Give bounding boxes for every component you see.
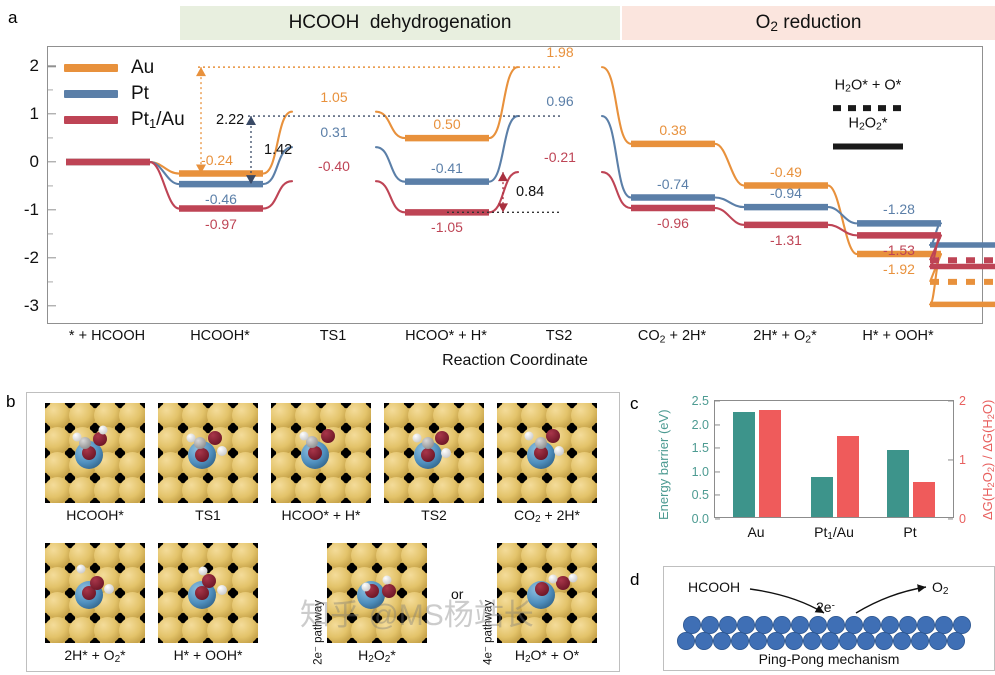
- surface-atom: [755, 616, 772, 633]
- x-tick-label: HCOO* + H*: [405, 328, 487, 344]
- atomistic-structure: [497, 403, 597, 503]
- atom-o: [435, 431, 449, 445]
- surface-atom: [857, 632, 874, 649]
- series-connector-Pt₁/Au: [150, 162, 941, 266]
- barrier-annotation: 1.42: [264, 142, 292, 158]
- structure-thumbnail: [497, 403, 597, 503]
- legend-label-pt: Pt: [131, 83, 149, 105]
- arrow-au-barrier-head-up: [196, 67, 206, 76]
- surface-atom: [917, 616, 934, 633]
- band-o2-reduction: O2 reduction: [622, 6, 995, 40]
- legend-item-au: Au: [64, 55, 185, 81]
- atom-h: [187, 434, 196, 443]
- x-tick-label: CO2 + 2H*: [638, 328, 706, 345]
- structure-thumbnail: [158, 543, 258, 643]
- arrow-out: [856, 587, 926, 613]
- legend-item-pt: Pt: [64, 81, 185, 107]
- structure-caption: CO2 + 2H*: [479, 507, 615, 525]
- y-tick-label: 0: [30, 152, 39, 172]
- structure-caption: H* + OOH*: [140, 647, 276, 663]
- surface-atom: [821, 632, 838, 649]
- legend-item-pt1au: Pt1/Au: [64, 107, 185, 133]
- y-tick-label: 2: [30, 56, 39, 76]
- atom-h: [199, 567, 208, 576]
- panel-a-letter: a: [8, 8, 17, 28]
- panel-c-letter: c: [630, 394, 639, 414]
- c-y-tick-left: 0.0: [692, 512, 709, 526]
- panel-a-free-energy-diagram: a HCOOH dehydrogenation O2 reduction -0.…: [0, 0, 995, 382]
- c-tick-left: [715, 424, 720, 425]
- y-tick-major: [48, 305, 56, 306]
- pathway-label-4e: 4e⁻ pathway: [480, 600, 494, 665]
- value-label: -1.28: [883, 201, 915, 217]
- surface-atom: [713, 632, 730, 649]
- panel-b-letter: b: [6, 392, 15, 412]
- atomistic-structure: [497, 543, 597, 643]
- c-tick-right: [948, 400, 953, 401]
- value-label: -0.40: [318, 158, 350, 174]
- y-tick-label: -3: [24, 296, 39, 316]
- atomistic-structure: [271, 403, 371, 503]
- surface-atom: [947, 632, 964, 649]
- legend-swatch-pt1au: [64, 116, 118, 124]
- atomistic-structure: [158, 543, 258, 643]
- x-tick-label: TS1: [320, 328, 347, 344]
- surface-atom: [911, 632, 928, 649]
- y-tick-major: [48, 257, 56, 258]
- arrow-pt1au-barrier-head-down: [498, 203, 508, 212]
- surface-atom: [809, 616, 826, 633]
- c-tick-left: [715, 448, 720, 449]
- value-label: -1.53: [883, 242, 915, 258]
- bar-deltag-ratio: [913, 482, 935, 517]
- value-label: -0.49: [770, 164, 802, 180]
- surface-atom: [899, 616, 916, 633]
- atom-h: [73, 433, 82, 442]
- atom-h: [569, 574, 578, 583]
- side-legend-label-dashed: H2O* + O*: [835, 77, 902, 94]
- c-y-tick-left: 2.0: [692, 418, 709, 432]
- c-y-tick-left: 1.5: [692, 441, 709, 455]
- atom-o: [382, 584, 396, 598]
- surface-atom: [953, 616, 970, 633]
- c-left-axis-label: Energy barrier (eV): [656, 409, 671, 520]
- x-tick-label: H* + OOH*: [862, 328, 933, 344]
- atom-h: [300, 432, 309, 441]
- atomistic-structure: [45, 543, 145, 643]
- surface-atom: [785, 632, 802, 649]
- band-right-label: O2 reduction: [756, 12, 862, 34]
- structure-thumbnail: [271, 403, 371, 503]
- c-tick-right: [948, 459, 953, 460]
- c-tick-right: [948, 518, 953, 519]
- atom-c: [194, 437, 206, 449]
- value-label: -1.05: [431, 219, 463, 235]
- y-tick-label: 1: [30, 104, 39, 124]
- structure-thumbnail: [327, 543, 427, 643]
- value-label: -1.92: [883, 261, 915, 277]
- bar-deltag-ratio: [837, 436, 859, 517]
- legend-label-pt1au: Pt1/Au: [131, 109, 185, 131]
- y-tick-minor: [48, 137, 53, 138]
- atom-o: [90, 576, 104, 590]
- atom-o: [195, 448, 209, 462]
- c-tick-left: [715, 495, 720, 496]
- c-y-tick-left: 2.5: [692, 394, 709, 408]
- c-y-tick-left: 0.5: [692, 488, 709, 502]
- surface-atom: [929, 632, 946, 649]
- value-label: -0.97: [205, 216, 237, 232]
- arrow-pt1au-barrier-head-up: [498, 172, 508, 181]
- c-x-tick-label: Pt: [903, 524, 916, 540]
- side-legend-label-solid: H2O2*: [848, 116, 887, 133]
- free-energy-plot-area: -0.241.050.501.980.38-0.49-1.92-0.460.31…: [48, 47, 982, 323]
- value-label: -0.41: [431, 160, 463, 176]
- panel-c-bar-chart: 0.00.51.01.52.02.5012 Energy barrier (eV…: [648, 392, 995, 552]
- y-tick-label: -1: [24, 200, 39, 220]
- surface-atom: [839, 632, 856, 649]
- atom-h: [362, 583, 371, 592]
- y-tick-major: [48, 113, 56, 114]
- atom-h: [549, 575, 558, 584]
- value-label: -1.31: [770, 232, 802, 248]
- panel-d-mechanism: HCOOH O2 2e- Ping-Pong mechanism: [663, 566, 995, 671]
- atom-o: [556, 576, 570, 590]
- structure-thumbnail: [45, 543, 145, 643]
- atomistic-structure: [327, 543, 427, 643]
- atom-h: [441, 448, 451, 458]
- surface-atom: [791, 616, 808, 633]
- bar-chart-frame: 0.00.51.01.52.02.5012: [714, 400, 954, 518]
- atom-o: [546, 429, 560, 443]
- pathway-label-2e: 2e⁻ pathway: [310, 600, 324, 665]
- x-tick-label: HCOOH*: [190, 328, 250, 344]
- c-y-tick-left: 1.0: [692, 465, 709, 479]
- legend-swatch-pt: [64, 90, 118, 98]
- structure-thumbnail: [45, 403, 145, 503]
- value-label: 0.31: [320, 124, 347, 140]
- value-label: -0.96: [657, 215, 689, 231]
- c-y-tick-right: 2: [959, 394, 966, 408]
- c-y-tick-right: 0: [959, 512, 966, 526]
- value-label: 1.05: [320, 89, 347, 105]
- surface-atom: [935, 616, 952, 633]
- c-tick-left: [715, 400, 720, 401]
- atom-o: [421, 448, 435, 462]
- barrier-annotation: 2.22: [216, 112, 244, 128]
- value-label: -0.94: [770, 185, 802, 201]
- atom-h: [217, 446, 227, 456]
- atom-h: [383, 576, 392, 585]
- bar-deltag-ratio: [759, 410, 781, 517]
- value-label: 0.96: [546, 93, 573, 109]
- atom-h: [104, 584, 114, 594]
- surface-atom: [731, 632, 748, 649]
- structure-caption: H2O* + O*: [479, 647, 615, 665]
- atom-h: [217, 585, 227, 595]
- arrow-in: [750, 589, 824, 613]
- c-x-tick-label: Pt1/Au: [814, 524, 854, 542]
- y-tick-minor: [48, 185, 53, 186]
- atom-c: [535, 437, 547, 449]
- x-tick-label: 2H* + O2*: [753, 328, 816, 345]
- atomistic-structure: [45, 403, 145, 503]
- band-left-label: HCOOH dehydrogenation: [289, 12, 512, 34]
- surface-atom: [737, 616, 754, 633]
- atom-h: [525, 432, 534, 441]
- atom-c: [422, 437, 434, 449]
- c-x-tick-label: Au: [747, 524, 764, 540]
- bar-energy-barrier: [887, 450, 909, 517]
- surface-atom: [773, 616, 790, 633]
- arrow-pt-barrier-head-up: [246, 116, 256, 125]
- surface-atom: [827, 616, 844, 633]
- value-label: 1.98: [546, 44, 573, 60]
- atom-o: [308, 446, 322, 460]
- atom-o: [321, 429, 335, 443]
- atom-h: [99, 426, 108, 435]
- surface-atom: [875, 632, 892, 649]
- y-tick-minor: [48, 233, 53, 234]
- surface-atom: [683, 616, 700, 633]
- structure-caption: H2O2*: [309, 647, 445, 665]
- structure-thumbnail: [384, 403, 484, 503]
- surface-atom: [893, 632, 910, 649]
- y-tick-major: [48, 65, 56, 66]
- surface-atom: [803, 632, 820, 649]
- surface-atom: [845, 616, 862, 633]
- c-tick-left: [715, 518, 720, 519]
- c-y-tick-right: 1: [959, 453, 966, 467]
- legend-label-au: Au: [131, 57, 154, 79]
- value-label: -0.21: [544, 149, 576, 165]
- y-tick-major: [48, 209, 56, 210]
- surface-atom: [881, 616, 898, 633]
- structure-thumbnail: [497, 543, 597, 643]
- value-label: 0.38: [659, 122, 686, 138]
- surface-atom: [863, 616, 880, 633]
- c-tick-left: [715, 471, 720, 472]
- structure-thumbnail: [158, 403, 258, 503]
- atom-o: [195, 586, 209, 600]
- band-hcooh-dehydrogenation: HCOOH dehydrogenation: [180, 6, 620, 40]
- atomistic-structure: [384, 403, 484, 503]
- d-reactant-label: HCOOH: [688, 579, 740, 595]
- free-energy-plot-frame: -0.241.050.501.980.38-0.49-1.92-0.460.31…: [47, 46, 983, 324]
- surface-atom: [749, 632, 766, 649]
- x-axis-label: Reaction Coordinate: [47, 352, 983, 370]
- x-tick-label: TS2: [546, 328, 573, 344]
- value-label: -0.24: [201, 152, 233, 168]
- d-caption: Ping-Pong mechanism: [664, 651, 994, 667]
- surface-atom: [719, 616, 736, 633]
- c-right-axis-label: ΔG(H2O2) / ΔG(H2O): [980, 400, 995, 520]
- atom-o: [93, 432, 107, 446]
- or-label: or: [451, 586, 463, 602]
- atom-o: [535, 582, 549, 596]
- y-tick-minor: [48, 90, 53, 91]
- atom-o: [208, 431, 222, 445]
- value-label: 0.50: [433, 116, 460, 132]
- y-tick-major: [48, 161, 56, 162]
- x-tick-label: * + HCOOH: [69, 328, 145, 344]
- barrier-annotation: 0.84: [516, 184, 544, 200]
- legend-swatch-au: [64, 64, 118, 72]
- panel-d-letter: d: [630, 570, 639, 590]
- surface-atom: [695, 632, 712, 649]
- panel-b-structures: HCOOH*TS1HCOO* + H*TS2CO2 + 2H*2H* + O2*…: [26, 392, 620, 672]
- value-label: -0.46: [205, 191, 237, 207]
- bar-energy-barrier: [733, 412, 755, 517]
- surface-atom: [767, 632, 784, 649]
- d-electron-label: 2e-: [816, 599, 835, 615]
- bar-energy-barrier: [811, 477, 833, 517]
- value-label: -0.74: [657, 176, 689, 192]
- d-product-label: O2: [932, 579, 949, 597]
- atom-h: [77, 565, 86, 574]
- surface-atom: [677, 632, 694, 649]
- series-legend: Au Pt Pt1/Au: [64, 55, 185, 133]
- atom-h: [554, 446, 564, 456]
- y-tick-label: -2: [24, 248, 39, 268]
- atomistic-structure: [158, 403, 258, 503]
- atom-o: [202, 574, 216, 588]
- atom-h: [413, 434, 422, 443]
- y-tick-minor: [48, 281, 53, 282]
- surface-atom: [701, 616, 718, 633]
